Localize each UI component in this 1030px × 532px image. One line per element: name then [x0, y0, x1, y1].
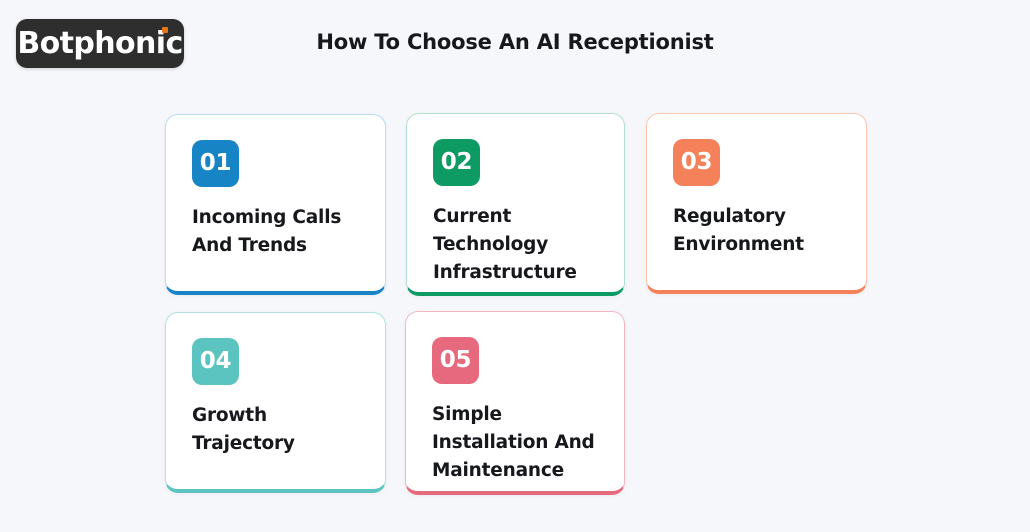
step-number-badge-05: 05: [432, 337, 479, 384]
step-card-title-05: Simple Installation And Maintenance: [432, 401, 598, 485]
step-card-05[interactable]: 05 Simple Installation And Maintenance: [405, 311, 625, 495]
step-card-title-03: Regulatory Environment: [673, 203, 840, 259]
infographic-page: Botphonic How To Choose An AI Receptioni…: [0, 0, 1030, 532]
step-card-02[interactable]: 02 Current Technology Infrastructure: [406, 113, 625, 296]
step-number-badge-04: 04: [192, 338, 239, 385]
step-card-04[interactable]: 04 Growth Trajectory: [165, 312, 386, 493]
step-number-badge-02: 02: [433, 139, 480, 186]
step-card-title-04: Growth Trajectory: [192, 402, 359, 458]
step-card-title-02: Current Technology Infrastructure: [433, 203, 598, 287]
page-title: How To Choose An AI Receptionist: [0, 30, 1030, 54]
step-card-03[interactable]: 03 Regulatory Environment: [646, 113, 867, 294]
step-card-01[interactable]: 01 Incoming Calls And Trends: [165, 114, 386, 295]
step-number-badge-01: 01: [192, 140, 239, 187]
step-number-badge-03: 03: [673, 139, 720, 186]
step-card-title-01: Incoming Calls And Trends: [192, 204, 359, 260]
